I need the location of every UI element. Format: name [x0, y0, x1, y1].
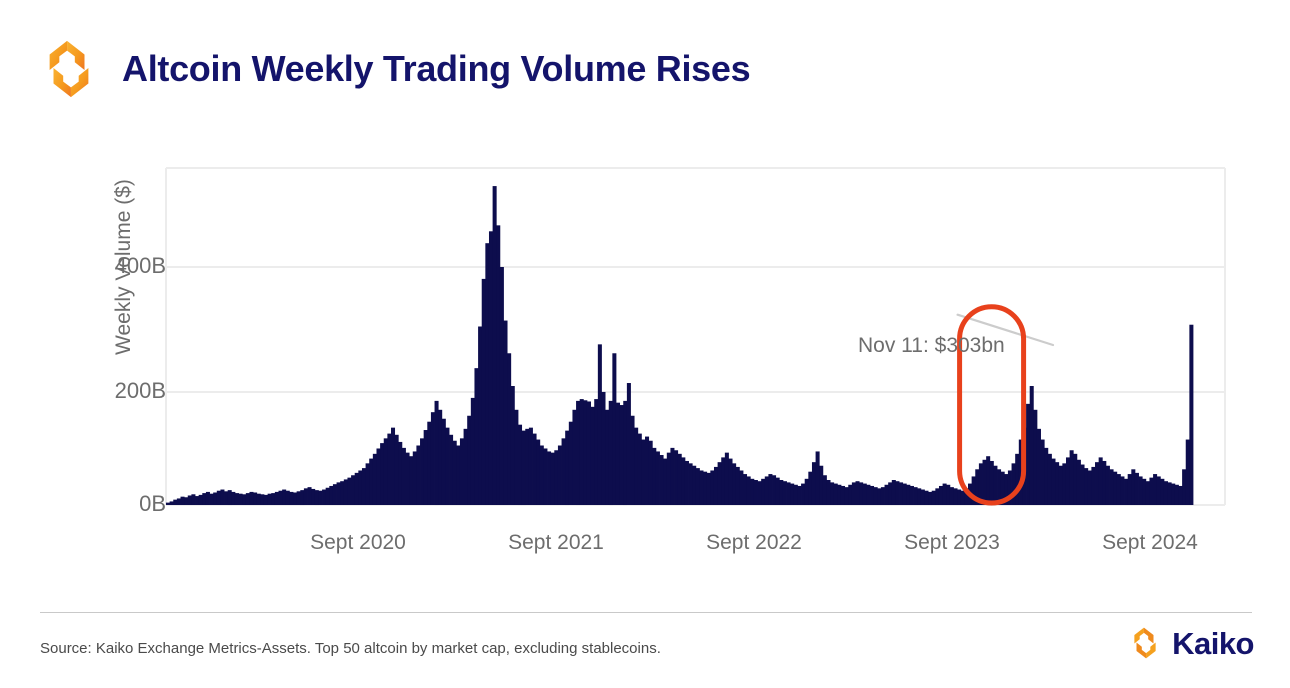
bar — [482, 279, 486, 505]
bar — [391, 428, 395, 505]
bar — [627, 383, 631, 505]
bar — [863, 484, 867, 505]
bar — [456, 446, 460, 506]
bar — [1110, 469, 1114, 505]
bar — [355, 473, 359, 505]
bar — [903, 484, 907, 505]
bar — [1088, 470, 1092, 505]
bar — [699, 470, 703, 505]
bar — [819, 466, 823, 505]
bar — [326, 488, 330, 505]
bar — [758, 481, 762, 505]
brand-wordmark: Kaiko — [1172, 628, 1254, 659]
bar — [957, 490, 961, 505]
bar — [1041, 440, 1045, 505]
bar — [406, 453, 410, 505]
bar — [522, 431, 526, 505]
bar — [525, 429, 529, 505]
bar — [1189, 325, 1193, 505]
bar — [823, 475, 827, 505]
bar — [293, 493, 297, 505]
bar — [732, 463, 736, 505]
bar — [641, 440, 645, 505]
footer-divider — [40, 612, 1252, 613]
bar — [246, 493, 250, 505]
bar — [540, 446, 544, 506]
bar — [663, 459, 667, 505]
bar — [340, 481, 344, 505]
bar — [776, 478, 780, 505]
gridlines — [166, 168, 1225, 505]
bar — [689, 463, 693, 505]
bar-series — [166, 186, 1193, 505]
bar — [866, 485, 870, 505]
bar — [380, 443, 384, 505]
bar — [986, 456, 990, 505]
bar — [184, 497, 188, 505]
bar — [725, 453, 729, 505]
bar — [1182, 469, 1186, 505]
bar — [736, 467, 740, 505]
bar — [253, 493, 257, 505]
bar — [166, 503, 170, 505]
bar — [652, 448, 656, 505]
bar — [507, 353, 511, 505]
bar — [678, 454, 682, 505]
bar — [721, 457, 725, 505]
bar — [485, 243, 489, 505]
bar — [674, 450, 678, 505]
bar — [1077, 460, 1081, 505]
bar — [772, 475, 776, 505]
bar — [289, 492, 293, 505]
bar — [202, 493, 206, 505]
bar — [852, 482, 856, 505]
bar — [1139, 476, 1143, 505]
bar — [173, 500, 177, 505]
bar — [249, 492, 253, 505]
bar — [917, 488, 921, 505]
footer-brand: Kaiko — [1128, 626, 1254, 660]
bar — [369, 459, 373, 505]
bar — [859, 482, 863, 505]
bar — [681, 457, 685, 505]
bar — [583, 400, 587, 505]
chart-page: Altcoin Weekly Trading Volume Rises Week… — [0, 0, 1290, 688]
bar — [264, 495, 268, 505]
bar — [413, 451, 417, 505]
bar — [373, 454, 377, 505]
bar — [1113, 472, 1117, 505]
bar — [739, 470, 743, 505]
bar — [830, 482, 834, 505]
bar — [286, 491, 290, 505]
bar — [188, 495, 192, 505]
bar — [638, 434, 642, 505]
bar — [275, 492, 279, 505]
bar — [935, 488, 939, 505]
bar — [543, 448, 547, 505]
bar — [761, 479, 765, 505]
bar — [231, 492, 235, 505]
bar — [257, 494, 261, 505]
bar — [1091, 467, 1095, 505]
bar — [514, 410, 518, 505]
bar — [714, 467, 718, 505]
bar — [351, 475, 355, 505]
bar — [460, 438, 464, 505]
bar — [503, 321, 507, 505]
bar — [442, 419, 446, 505]
bar — [329, 486, 333, 505]
bar — [631, 416, 635, 505]
bar — [696, 468, 700, 505]
bar — [1026, 404, 1030, 505]
bar — [449, 435, 453, 505]
bar — [1124, 479, 1128, 505]
bar — [812, 462, 816, 505]
bar — [594, 399, 598, 505]
chart: Weekly Volume ($) 400B 200B 0B Sept 2020… — [0, 0, 1290, 600]
bar — [660, 455, 664, 505]
bar — [609, 401, 613, 505]
bar — [551, 453, 555, 505]
bar — [1015, 454, 1019, 505]
bar — [217, 491, 221, 505]
bar — [1030, 386, 1034, 505]
bar — [983, 460, 987, 505]
bar — [271, 493, 275, 505]
bar — [315, 490, 319, 505]
bar — [402, 448, 406, 505]
bar — [765, 476, 769, 505]
bar — [874, 487, 878, 505]
bar — [845, 487, 849, 505]
bar — [710, 470, 714, 505]
bar — [529, 428, 533, 505]
bar — [754, 480, 758, 505]
bar — [837, 485, 841, 505]
bar — [580, 399, 584, 505]
bar — [1044, 448, 1048, 505]
bar — [834, 484, 838, 505]
bar — [445, 428, 449, 505]
bar — [471, 398, 475, 505]
bar — [921, 490, 925, 505]
bar — [794, 485, 798, 505]
bar — [993, 466, 997, 505]
bar — [387, 434, 391, 505]
bar — [576, 401, 580, 505]
bar — [467, 416, 471, 505]
bar — [1106, 466, 1110, 505]
bar — [478, 327, 482, 506]
bar — [1157, 476, 1161, 505]
source-note: Source: Kaiko Exchange Metrics-Assets. T… — [40, 640, 661, 657]
bar — [1117, 474, 1121, 505]
bar — [489, 231, 493, 505]
bar — [554, 450, 558, 505]
bar — [279, 491, 283, 505]
bar — [195, 496, 199, 505]
bar — [841, 486, 845, 505]
bar — [870, 486, 874, 505]
bar — [409, 456, 413, 505]
bar — [572, 410, 576, 505]
bar — [1175, 485, 1179, 505]
bar — [1073, 454, 1077, 505]
bar — [805, 479, 809, 505]
bar — [337, 482, 341, 505]
bar — [1048, 454, 1052, 505]
bar — [282, 490, 286, 505]
bar — [416, 446, 420, 506]
bar — [300, 490, 304, 505]
bar — [914, 487, 918, 505]
bar — [950, 487, 954, 505]
bar — [1142, 479, 1146, 505]
bar — [906, 485, 910, 505]
bar — [464, 429, 468, 505]
bar — [656, 451, 660, 505]
bar — [242, 494, 246, 505]
bar — [384, 438, 388, 505]
bar — [431, 412, 435, 505]
bar — [358, 470, 362, 505]
bar — [612, 353, 616, 505]
bar — [376, 448, 380, 505]
bar — [1153, 474, 1157, 505]
bar — [881, 487, 885, 505]
bar — [311, 489, 315, 505]
bar — [181, 497, 185, 505]
bar — [170, 501, 174, 505]
bar — [1095, 462, 1099, 505]
bar — [620, 405, 624, 505]
bar — [816, 451, 820, 505]
bar — [601, 392, 605, 505]
bar — [1120, 476, 1124, 505]
bar — [228, 490, 232, 505]
bar — [591, 407, 595, 505]
annotation-label: Nov 11: $303bn — [858, 334, 1005, 358]
bar — [533, 434, 537, 505]
bar — [649, 441, 653, 505]
bar — [558, 446, 562, 506]
bar — [808, 472, 812, 505]
bar — [424, 430, 428, 505]
bar — [587, 401, 591, 505]
bar — [750, 479, 754, 505]
bar — [1037, 429, 1041, 505]
bar — [939, 486, 943, 505]
bar — [1164, 481, 1168, 505]
bar — [565, 431, 569, 505]
bar — [239, 494, 243, 505]
bar — [297, 491, 301, 505]
bar — [928, 492, 932, 505]
bar — [899, 482, 903, 505]
bar — [1055, 462, 1059, 505]
bar — [224, 491, 228, 505]
bar — [1171, 484, 1175, 505]
bar — [362, 468, 366, 505]
bar — [206, 492, 210, 505]
bar — [366, 463, 370, 505]
bar — [888, 482, 892, 505]
bar — [420, 438, 424, 505]
bar — [220, 490, 224, 505]
bar — [536, 440, 540, 505]
bar — [797, 486, 801, 505]
bar — [856, 481, 860, 505]
bar — [308, 487, 312, 505]
bar — [790, 484, 794, 505]
bar — [645, 437, 649, 505]
bar — [474, 368, 478, 505]
bar — [779, 480, 783, 505]
bar — [191, 494, 195, 505]
bar — [703, 472, 707, 505]
bar — [1066, 457, 1070, 505]
plot-svg — [0, 0, 1290, 600]
bar — [895, 481, 899, 505]
bar — [932, 491, 936, 505]
bar — [623, 401, 627, 505]
bar — [783, 481, 787, 505]
bar — [304, 488, 308, 505]
bar — [1081, 465, 1085, 505]
bar — [910, 486, 914, 505]
bar — [260, 494, 264, 505]
bar — [707, 473, 711, 505]
bar — [924, 491, 928, 505]
bar — [322, 490, 326, 505]
bar — [199, 495, 203, 505]
bar — [496, 225, 500, 505]
bar — [826, 480, 830, 505]
bar — [747, 476, 751, 505]
bar — [318, 491, 322, 505]
bar — [562, 438, 566, 505]
bar — [787, 482, 791, 505]
bar — [718, 462, 722, 505]
bar — [605, 410, 609, 505]
bar — [670, 448, 674, 505]
bar — [1128, 474, 1132, 505]
bar — [438, 410, 442, 505]
bar — [728, 459, 732, 505]
bar — [1186, 440, 1190, 505]
bar — [398, 442, 402, 505]
bar — [1062, 463, 1066, 505]
bar — [692, 466, 696, 505]
bar — [333, 484, 337, 505]
bar — [667, 453, 671, 505]
bar — [634, 428, 638, 505]
bar — [347, 478, 351, 505]
bar — [1160, 479, 1164, 505]
bar — [1168, 482, 1172, 505]
bar — [946, 485, 950, 505]
bar — [943, 484, 947, 505]
bar — [427, 422, 431, 505]
bar — [685, 461, 689, 505]
bar — [1084, 468, 1088, 505]
bar — [598, 344, 602, 505]
bar — [268, 494, 272, 505]
bar — [493, 186, 497, 505]
bar — [1131, 469, 1135, 505]
bar — [801, 484, 805, 505]
bar — [885, 485, 889, 505]
bar — [616, 403, 620, 505]
bar — [213, 493, 217, 505]
bar — [961, 491, 965, 505]
bar — [1135, 473, 1139, 505]
bar — [344, 479, 348, 505]
bar — [877, 488, 881, 505]
bar — [1149, 478, 1153, 505]
bar — [1070, 450, 1074, 505]
bar — [743, 474, 747, 505]
kaiko-logo-icon — [1128, 626, 1162, 660]
bar — [1051, 459, 1055, 505]
bar — [235, 493, 239, 505]
bar — [953, 488, 957, 505]
bar — [569, 422, 573, 505]
bar — [518, 425, 522, 505]
bar — [500, 267, 504, 505]
bar — [990, 461, 994, 505]
bar — [1102, 461, 1106, 505]
bar — [1033, 410, 1037, 505]
bar — [511, 386, 515, 505]
bar — [1146, 481, 1150, 505]
bar — [453, 441, 457, 505]
bar — [1059, 466, 1063, 505]
bar — [848, 485, 852, 505]
bar — [1012, 463, 1016, 505]
bar — [1099, 457, 1103, 505]
bar — [435, 401, 439, 505]
bar — [395, 435, 399, 505]
bar — [177, 498, 181, 505]
bar — [892, 480, 896, 505]
bar — [1178, 486, 1182, 505]
bar — [768, 474, 772, 505]
bar — [210, 494, 214, 505]
bar — [547, 451, 551, 505]
